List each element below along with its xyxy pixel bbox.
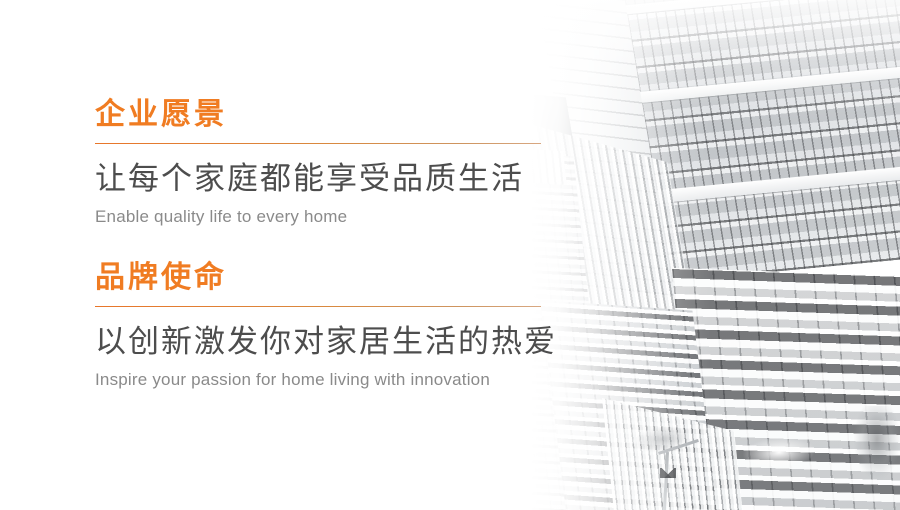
mission-headline: 以创新激发你对家居生活的热爱 xyxy=(95,323,555,360)
mission-block: 品牌使命 以创新激发你对家居生活的热爱 Inspire your passion… xyxy=(95,261,555,390)
vision-headline: 让每个家庭都能享受品质生活 xyxy=(95,160,555,197)
street-tree xyxy=(854,406,900,480)
street-light-flare xyxy=(742,435,816,470)
mission-divider-rule xyxy=(95,306,541,307)
bird-silhouette xyxy=(660,468,676,478)
vision-block: 企业愿景 让每个家庭都能享受品质生活 Enable quality life t… xyxy=(95,98,555,227)
mission-subtitle: Inspire your passion for home living wit… xyxy=(95,369,555,390)
mission-kicker: 品牌使命 xyxy=(95,261,555,295)
copy-column: 企业愿景 让每个家庭都能享受品质生活 Enable quality life t… xyxy=(95,0,565,510)
vision-mission-banner: 企业愿景 让每个家庭都能享受品质生活 Enable quality life t… xyxy=(0,0,900,510)
vision-subtitle: Enable quality life to every home xyxy=(95,206,555,227)
vision-divider-rule xyxy=(95,143,541,144)
vision-kicker: 企业愿景 xyxy=(95,98,555,132)
